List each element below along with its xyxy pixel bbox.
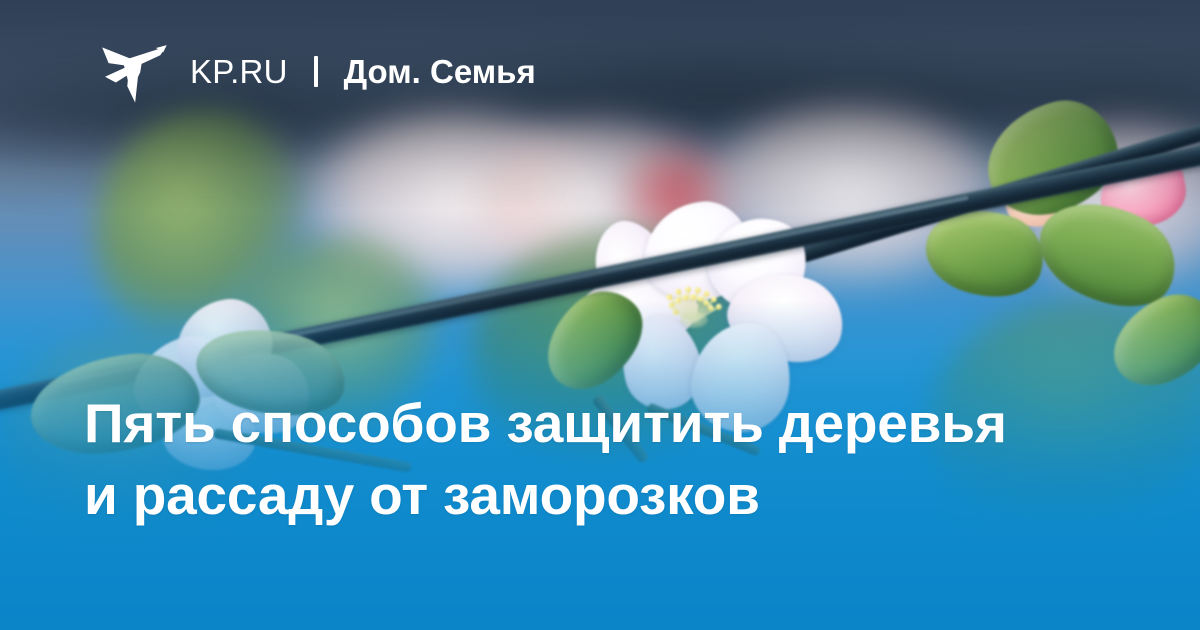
brand-name[interactable]: KP.RU: [190, 55, 288, 88]
swallow-bird-logo-icon[interactable]: [96, 38, 170, 104]
brand-header: KP.RU Дом. Семья: [96, 38, 536, 104]
headline: Пять способов защитить деревья и рассаду…: [84, 387, 1116, 531]
section-name[interactable]: Дом. Семья: [344, 55, 536, 88]
headline-line-2: и рассаду от заморозков: [84, 459, 1116, 531]
share-card: KP.RU Дом. Семья Пять способов защитить …: [0, 0, 1200, 630]
headline-line-1: Пять способов защитить деревья: [84, 387, 1116, 459]
top-shade-overlay: [0, 0, 1200, 210]
header-divider: [314, 56, 318, 87]
